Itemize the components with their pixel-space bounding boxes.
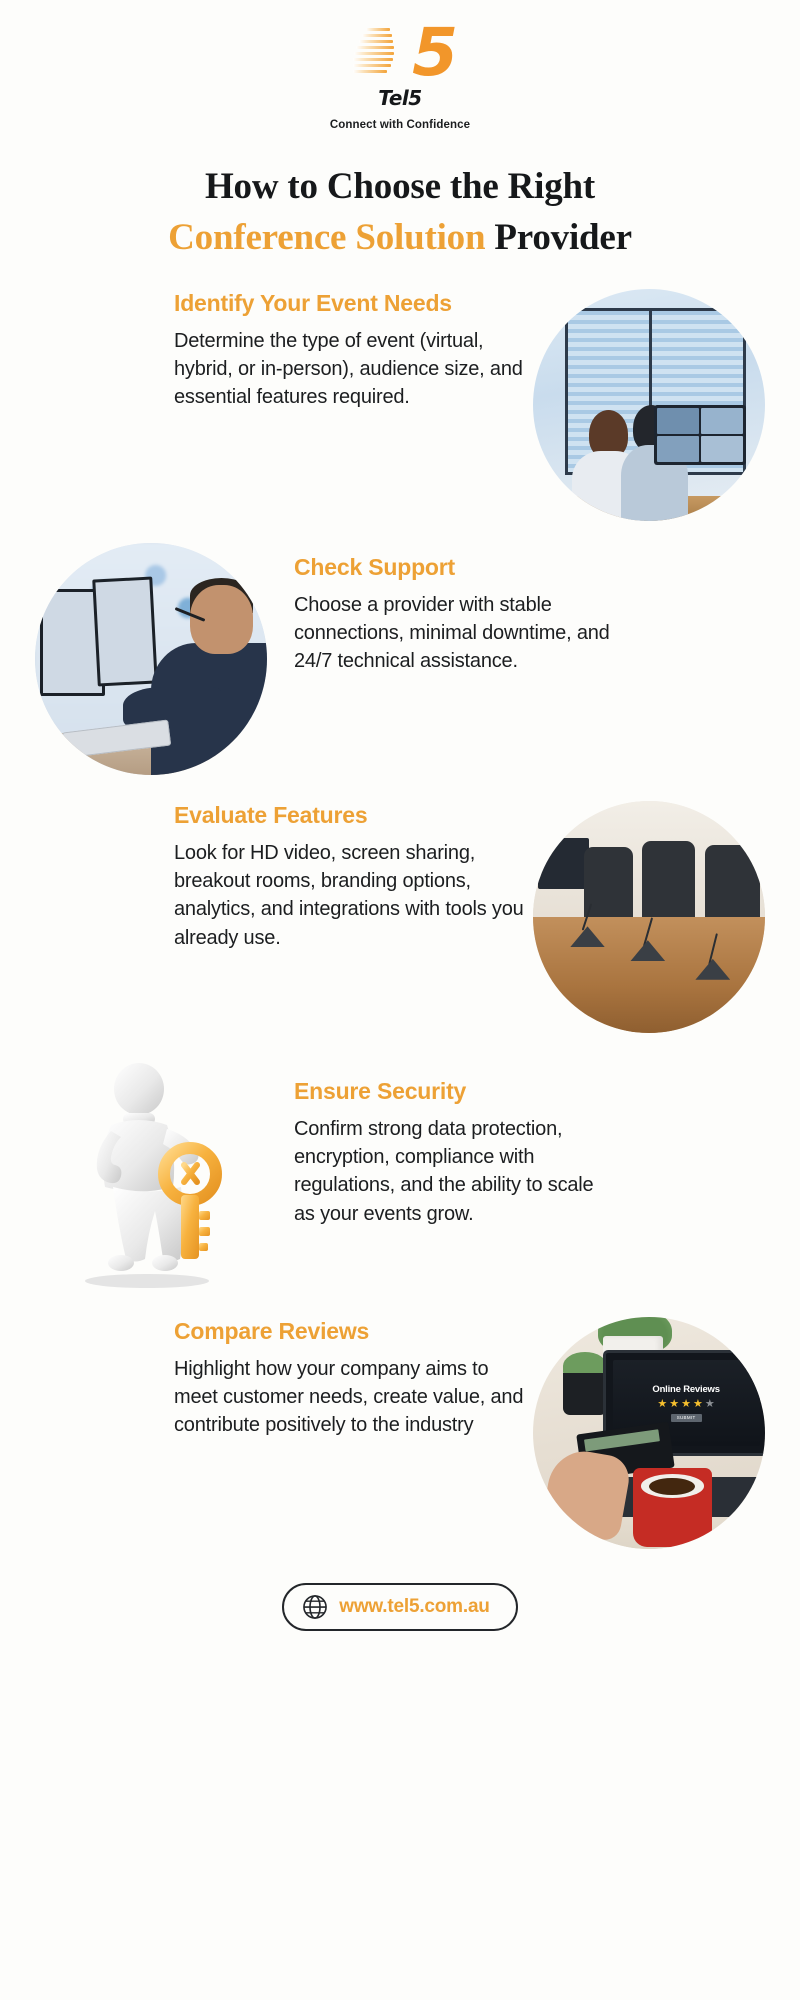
section-4-image-wrap [26,1059,276,1291]
section-3-heading: Evaluate Features [174,801,524,830]
title-accent-phrase: Conference Solution [168,217,485,258]
section-5-text: Compare Reviews Highlight how your compa… [174,1317,524,1440]
section-2-heading: Check Support [294,553,616,582]
section-3-body: Look for HD video, screen sharing, break… [174,839,524,953]
section-5-image-wrap: Online Reviews ★★★★★ SUBMIT [524,1317,774,1549]
boardroom-microphones-photo [533,801,765,1033]
logo-numeral-five: 5 [412,20,456,86]
meeting-room-video-call-photo [533,289,765,521]
website-url-text: www.tel5.com.au [339,1596,489,1618]
figure-holding-key-illustration [35,1059,267,1291]
coffee-cup-object [633,1468,712,1547]
section-3-text: Evaluate Features Look for HD video, scr… [174,801,524,952]
section-3-image-wrap [524,801,774,1033]
section-2-image-wrap [26,543,276,775]
globe-icon [302,1594,328,1620]
title-line-1: How to Choose the Right [205,166,595,207]
section-2-body: Choose a provider with stable connection… [294,591,616,676]
section-5-body: Highlight how your company aims to meet … [174,1355,524,1440]
video-call-grid-icon [654,405,747,465]
key-figure-svg [35,1059,267,1291]
footer: www.tel5.com.au [0,1583,800,1631]
tel5-logo-mark: 5 [340,22,460,90]
logo-motion-streaks-icon [348,28,400,84]
page-title: How to Choose the Right Conference Solut… [0,161,800,263]
brand-logo-block: 5 Tel5 Connect with Confidence [0,0,800,131]
section-identify-your-event-needs: Identify Your Event Needs Determine the … [0,289,800,521]
logo-tagline: Connect with Confidence [0,119,800,131]
section-4-body: Confirm strong data protection, encrypti… [294,1115,616,1229]
section-4-text: Ensure Security Confirm strong data prot… [276,1059,616,1228]
section-ensure-security: Ensure Security Confirm strong data prot… [0,1059,800,1291]
section-5-heading: Compare Reviews [174,1317,524,1346]
section-1-text: Identify Your Event Needs Determine the … [174,289,524,412]
section-1-image-wrap [524,289,774,521]
section-4-heading: Ensure Security [294,1077,616,1106]
section-2-text: Check Support Choose a provider with sta… [276,543,616,676]
website-url-pill[interactable]: www.tel5.com.au [282,1583,517,1631]
infographic-page: 5 Tel5 Connect with Confidence How to Ch… [0,0,800,2000]
star-rating-icons: ★★★★★ [657,1399,714,1410]
title-line-2-rest: Provider [485,217,632,258]
reviews-screen-title: Online Reviews [652,1384,719,1395]
support-agent-headset-photo [35,543,267,775]
submit-button[interactable]: SUBMIT [671,1414,702,1422]
online-reviews-laptop-photo: Online Reviews ★★★★★ SUBMIT [533,1317,765,1549]
section-1-heading: Identify Your Event Needs [174,289,524,318]
section-evaluate-features: Evaluate Features Look for HD video, scr… [0,801,800,1033]
section-1-body: Determine the type of event (virtual, hy… [174,327,524,412]
section-compare-reviews: Online Reviews ★★★★★ SUBMIT Compare Revi… [0,1317,800,1549]
section-check-support: Check Support Choose a provider with sta… [0,543,800,775]
